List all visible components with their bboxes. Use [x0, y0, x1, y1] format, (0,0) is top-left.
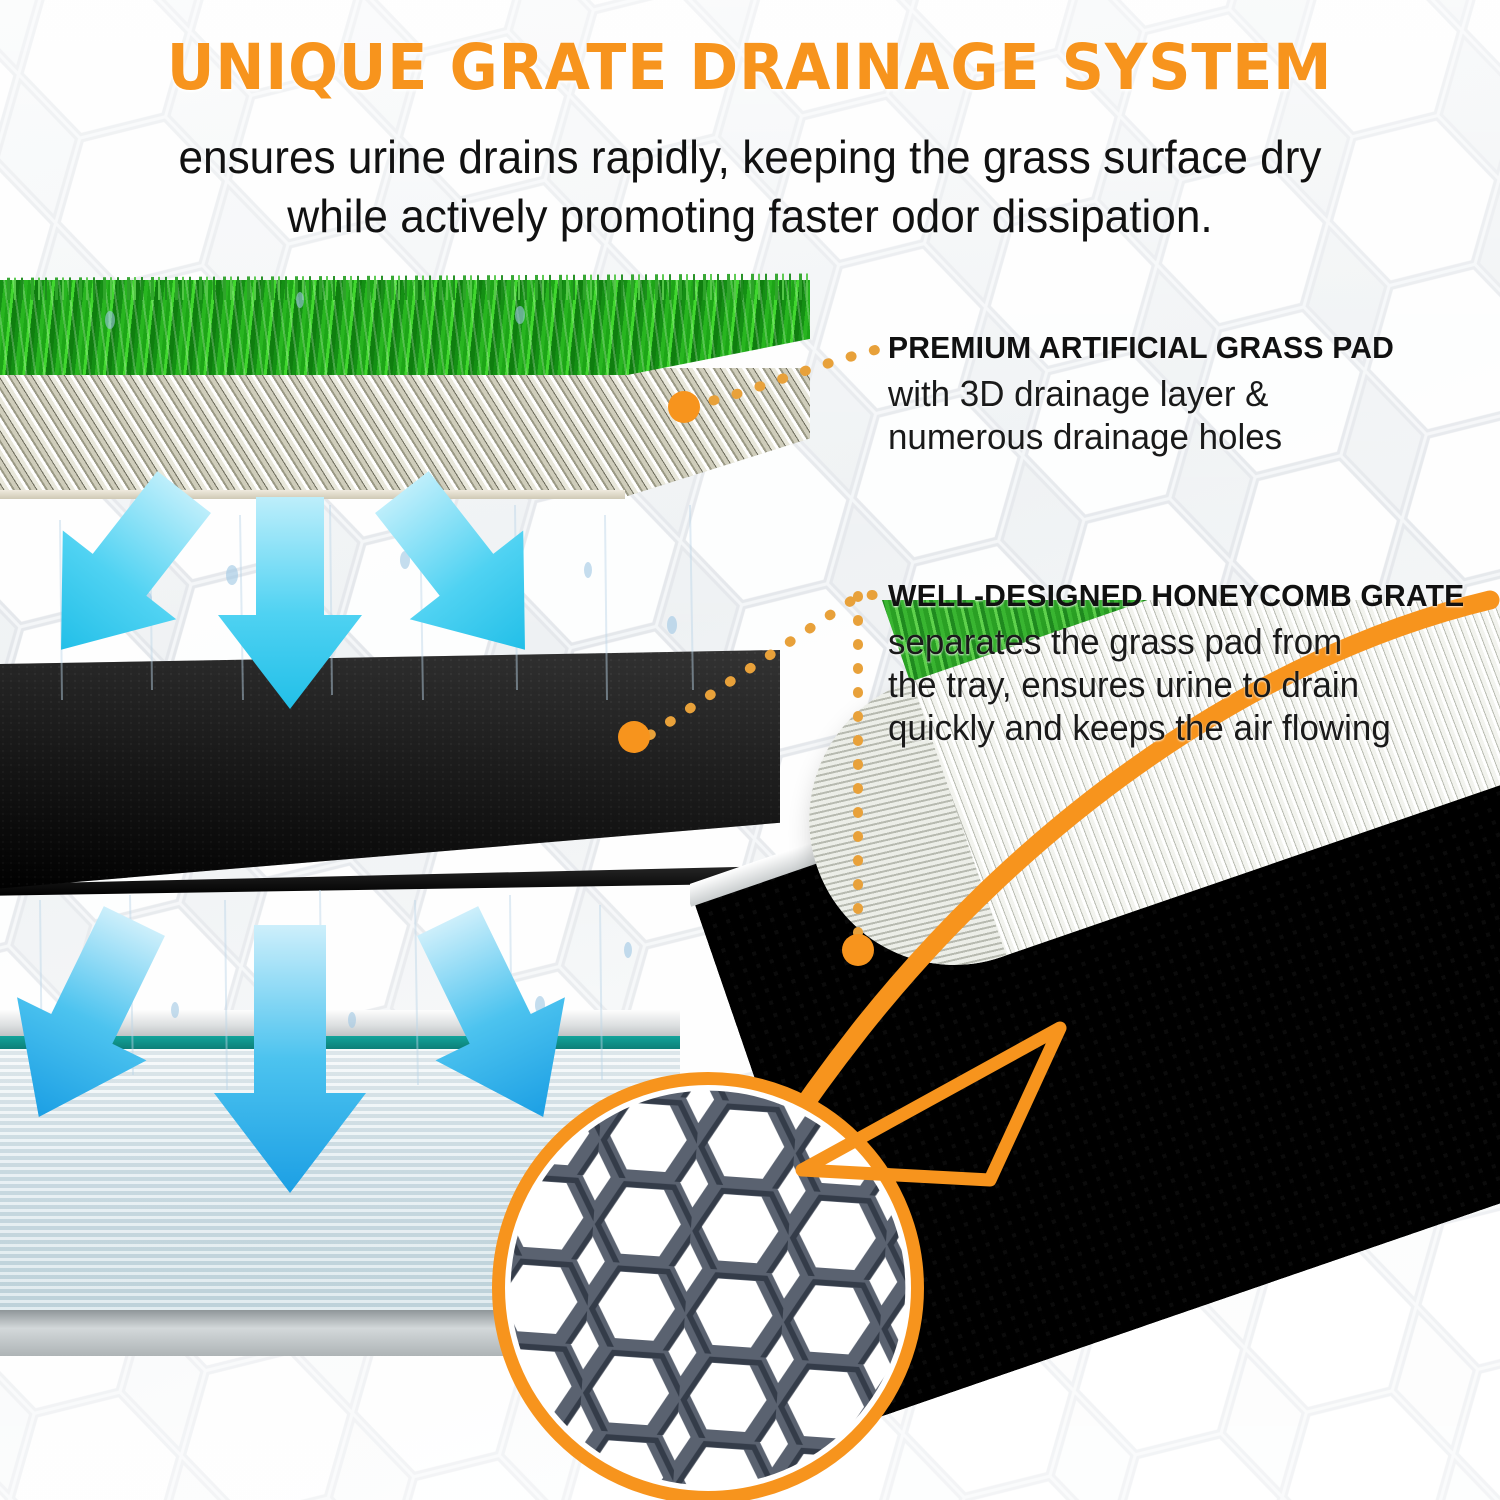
callout-1-body: with 3D drainage layer & numerous draina… [888, 372, 1410, 458]
subtitle-line-1: ensures urine drains rapidly, keeping th… [30, 128, 1470, 187]
callout-2-body-line-1: separates the grass pad from [888, 620, 1464, 663]
callout-honeycomb-grate: WELL-DESIGNED HONEYCOMB GRATE separates … [888, 578, 1482, 750]
infographic-canvas: UNIQUE GRATE DRAINAGE SYSTEM ensures uri… [0, 0, 1500, 1500]
callout-2-body-line-2: the tray, ensures urine to drain [888, 663, 1464, 706]
callout-1-heading: PREMIUM ARTIFICIAL GRASS PAD [888, 330, 1394, 366]
magnifier-pointer [792, 1020, 1072, 1220]
callout-1-body-line-1: with 3D drainage layer & [888, 372, 1394, 415]
callout-2-body: separates the grass pad from the tray, e… [888, 620, 1482, 750]
headline-block: UNIQUE GRATE DRAINAGE SYSTEM [0, 36, 1500, 99]
honeycomb-zoom-circle [492, 1072, 924, 1500]
subtitle-block: ensures urine drains rapidly, keeping th… [0, 128, 1500, 246]
grass-blade-fringe [0, 266, 810, 300]
honeycomb-grate-panel [0, 650, 780, 890]
callout-premium-grass-pad: PREMIUM ARTIFICIAL GRASS PAD with 3D dra… [888, 330, 1410, 458]
callout-1-body-line-2: numerous drainage holes [888, 415, 1394, 458]
tray-teal-edge [0, 1036, 680, 1049]
subtitle-line-2: while actively promoting faster odor dis… [30, 187, 1470, 246]
callout-2-heading: WELL-DESIGNED HONEYCOMB GRATE [888, 578, 1464, 614]
page-title: UNIQUE GRATE DRAINAGE SYSTEM [167, 36, 1333, 99]
grass-mesh-backing-layer [0, 368, 810, 496]
callout-2-body-line-3: quickly and keeps the air flowing [888, 706, 1464, 749]
tray-rim [0, 1010, 680, 1038]
grass-backing-edge [0, 490, 625, 499]
